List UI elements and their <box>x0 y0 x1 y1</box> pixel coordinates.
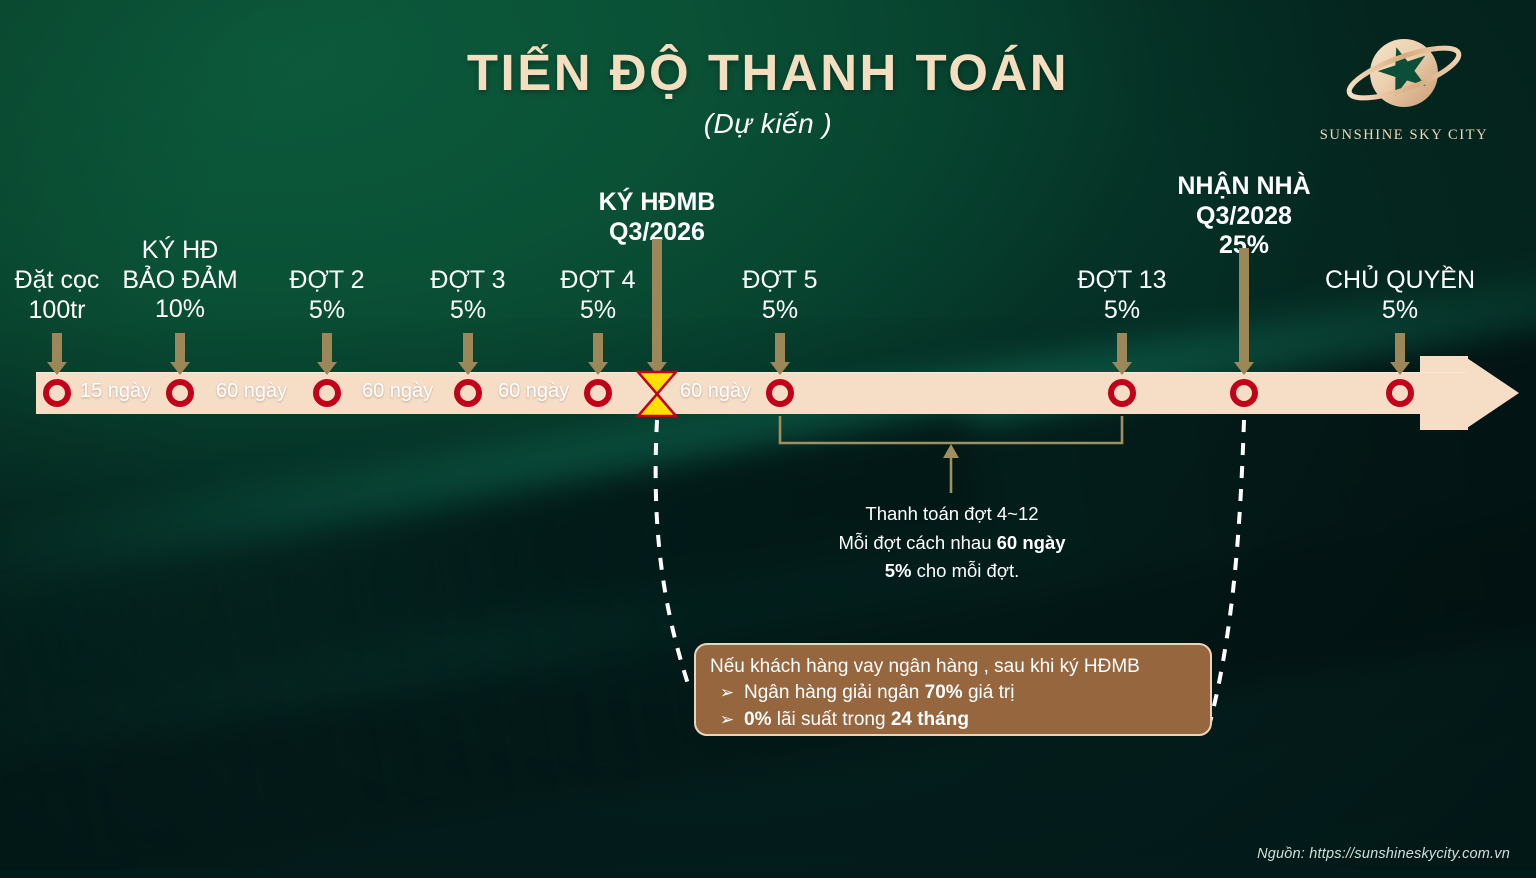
milestone-ky-hd-bao-dam: KÝ HĐBẢO ĐẢM10% <box>122 236 237 325</box>
milestone-label-line: BẢO ĐẢM <box>122 266 237 296</box>
milestone-label-line: 5% <box>1077 296 1166 326</box>
milestone-label-line: 5% <box>1325 296 1475 326</box>
milestone-label-line: 5% <box>560 296 635 326</box>
milestone-label-line: KÝ HĐMB <box>599 188 716 218</box>
arrow-bullet-icon: ➢ <box>710 708 744 732</box>
milestone-dat-coc: Đặt cọc100tr <box>15 266 100 325</box>
timeline-gap-label: 60 ngày <box>362 380 433 403</box>
source-note: Nguồn: https://sunshineskycity.com.vn <box>1257 846 1510 862</box>
milestone-label-line: ĐỢT 5 <box>742 266 817 296</box>
milestone-pointer-arrow <box>775 333 785 363</box>
timeline-arrow-head <box>1464 356 1519 430</box>
callout-item-2-text: 0% lãi suất trong 24 tháng <box>744 707 969 734</box>
milestone-dot-13: ĐỢT 135% <box>1077 266 1166 325</box>
brand-logo: SUNSHINE SKY CITY <box>1314 26 1494 144</box>
timeline-gap-label: 60 ngày <box>680 380 751 403</box>
bank-loan-callout: Nếu khách hàng vay ngân hàng , sau khi k… <box>694 643 1212 736</box>
milestone-label-line: 100tr <box>15 296 100 326</box>
milestone-label-line: NHẬN NHÀ <box>1177 172 1310 202</box>
milestone-dot-4: ĐỢT 45% <box>560 266 635 325</box>
milestone-label-line: 10% <box>122 295 237 325</box>
milestone-label-line: Q3/2028 <box>1177 202 1310 232</box>
milestone-dot-5: ĐỢT 55% <box>742 266 817 325</box>
milestone-pointer-arrow <box>52 333 62 363</box>
milestone-label-line: Đặt cọc <box>15 266 100 296</box>
milestone-pointer-arrow <box>463 333 473 363</box>
callout-heading: Nếu khách hàng vay ngân hàng , sau khi k… <box>710 654 1196 680</box>
background-bottom-edge <box>0 870 1536 878</box>
milestone-label-line: ĐỢT 4 <box>560 266 635 296</box>
bracket-note: Thanh toán đợt 4~12 Mỗi đợt cách nhau 60… <box>838 500 1065 586</box>
timeline-marker <box>1386 379 1414 407</box>
milestone-pointer-arrow <box>1117 333 1127 363</box>
milestone-label-line: 5% <box>430 296 505 326</box>
page-title: TIẾN ĐỘ THANH TOÁN <box>0 46 1536 100</box>
milestone-dot-2: ĐỢT 25% <box>289 266 364 325</box>
milestone-pointer-arrow <box>322 333 332 363</box>
timeline-marker <box>1108 379 1136 407</box>
page-subtitle: (Dự kiến ) <box>0 108 1536 140</box>
timeline-gap-label: 15 ngày <box>80 380 151 403</box>
timeline-marker <box>313 379 341 407</box>
timeline-marker <box>166 379 194 407</box>
bracket-note-line3: 5% cho mỗi đợt. <box>838 557 1065 586</box>
arrow-bullet-icon: ➢ <box>710 681 744 705</box>
ky-hdmb-hourglass-marker <box>635 370 679 418</box>
milestone-pointer-arrow <box>593 333 603 363</box>
milestone-label-line: 5% <box>742 296 817 326</box>
timeline-marker <box>454 379 482 407</box>
milestone-chu-quyen: CHỦ QUYỀN5% <box>1325 266 1475 325</box>
timeline-marker <box>766 379 794 407</box>
milestone-pointer-arrow <box>1239 248 1249 363</box>
callout-item-1: ➢ Ngân hàng giải ngân 70% giá trị <box>710 680 1196 707</box>
milestone-pointer-arrow <box>1395 333 1405 363</box>
milestone-pointer-arrow <box>175 333 185 363</box>
milestone-label-line: KÝ HĐ <box>122 236 237 266</box>
callout-item-1-text: Ngân hàng giải ngân 70% giá trị <box>744 680 1014 707</box>
milestone-label-line: CHỦ QUYỀN <box>1325 266 1475 296</box>
timeline-marker <box>1230 379 1258 407</box>
logo-wordmark: SUNSHINE SKY CITY <box>1314 127 1494 144</box>
slide-canvas: TIẾN ĐỘ THANH TOÁN (Dự kiến ) <box>0 0 1536 878</box>
milestone-label-line: ĐỢT 3 <box>430 266 505 296</box>
callout-item-2: ➢ 0% lãi suất trong 24 tháng <box>710 707 1196 734</box>
milestone-pointer-arrow <box>652 239 662 363</box>
bracket-note-line1: Thanh toán đợt 4~12 <box>838 500 1065 529</box>
milestone-label-line: 5% <box>289 296 364 326</box>
timeline-gap-label: 60 ngày <box>216 380 287 403</box>
bracket-note-line2: Mỗi đợt cách nhau 60 ngày <box>838 529 1065 558</box>
milestone-dot-3: ĐỢT 35% <box>430 266 505 325</box>
milestone-label-line: ĐỢT 13 <box>1077 266 1166 296</box>
timeline-marker <box>584 379 612 407</box>
timeline-marker <box>43 379 71 407</box>
timeline-gap-label: 60 ngày <box>498 380 569 403</box>
planet-ring-star-icon <box>1314 26 1494 126</box>
milestone-label-line: ĐỢT 2 <box>289 266 364 296</box>
